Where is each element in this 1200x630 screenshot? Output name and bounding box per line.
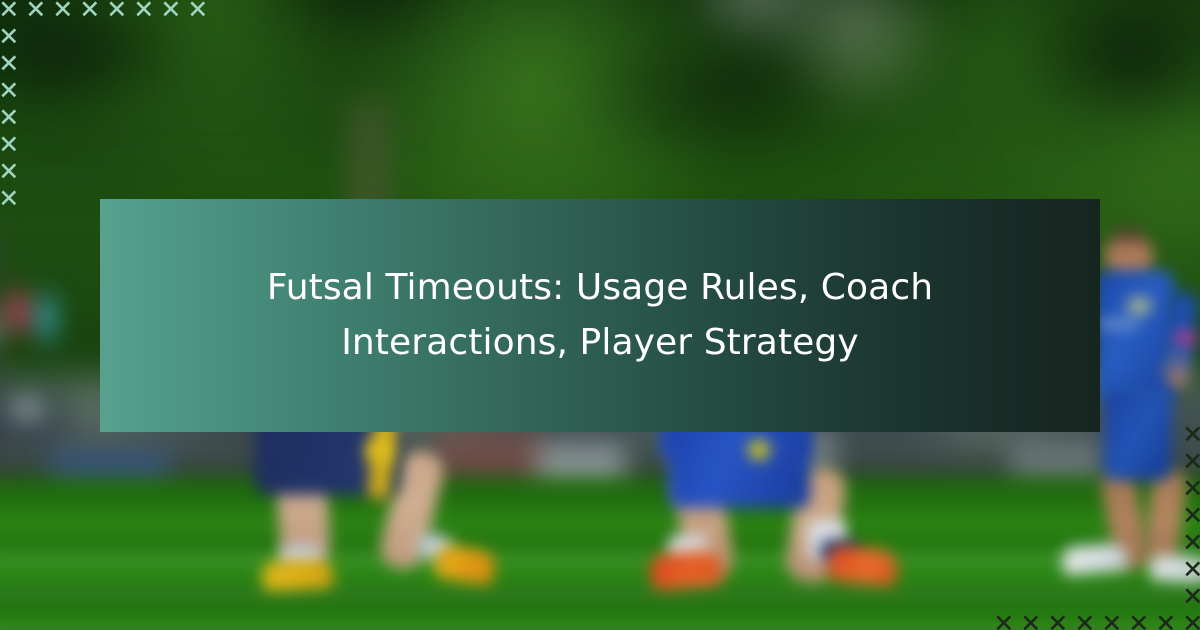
right-person-wristband (1176, 332, 1196, 344)
right-person-shirt (1095, 270, 1175, 400)
center-player-badge (748, 440, 770, 460)
right-person-shoe (1149, 554, 1200, 584)
center-player-boot (648, 548, 723, 591)
share-card-canvas: Futsal Timeouts: Usage Rules, Coach Inte… (0, 0, 1200, 630)
right-person-shorts (1104, 390, 1172, 480)
right-person-stripe (1098, 320, 1138, 328)
left-player-boot (261, 558, 334, 592)
center-player-shorts (668, 420, 810, 508)
left-player-badge (366, 440, 392, 462)
page-title: Futsal Timeouts: Usage Rules, Coach Inte… (150, 261, 1050, 370)
right-person-logo (1128, 298, 1150, 314)
turf-mow-lines (0, 528, 1200, 630)
right-person-shoe (1061, 542, 1129, 576)
title-overlay-card: Futsal Timeouts: Usage Rules, Coach Inte… (100, 199, 1100, 432)
